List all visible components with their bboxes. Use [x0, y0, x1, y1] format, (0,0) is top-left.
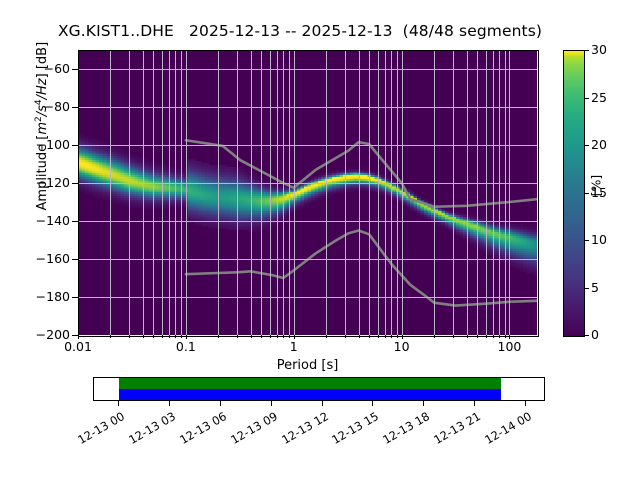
gridline-vertical: [186, 50, 187, 335]
x-minor-tick-mark: [283, 335, 284, 338]
timeline-data-bar: [119, 378, 501, 389]
gridline-vertical: [289, 50, 290, 335]
gridline-vertical: [434, 50, 435, 335]
x-minor-tick-mark: [378, 335, 379, 338]
gridline-vertical: [283, 50, 284, 335]
x-tick-label: 100: [479, 339, 539, 354]
gridline-vertical: [369, 50, 370, 335]
gridline-vertical: [402, 50, 403, 335]
y-tick-label: −120: [22, 175, 70, 190]
colorbar-tick-mark: [584, 288, 589, 289]
colorbar-tick-label: 5: [591, 280, 599, 295]
x-minor-tick-mark: [345, 335, 346, 338]
y-tick-label: −80: [22, 99, 70, 114]
gridline-horizontal: [78, 259, 537, 260]
gridline-vertical: [162, 50, 163, 335]
timeline-tick-label: 12-13 03: [119, 409, 178, 451]
x-minor-tick-mark: [218, 335, 219, 338]
x-minor-tick-mark: [175, 335, 176, 338]
colorbar: [563, 50, 585, 337]
timeline-tick-label: 12-13 06: [170, 409, 229, 451]
x-minor-tick-mark: [391, 335, 392, 338]
ppsd-figure: XG.KIST1..DHE 2025-12-13 -- 2025-12-13 (…: [0, 0, 640, 480]
x-minor-tick-mark: [251, 335, 252, 338]
gridline-vertical: [153, 50, 154, 335]
colorbar-tick-label: 25: [591, 90, 607, 105]
gridline-vertical: [326, 50, 327, 335]
x-minor-tick-mark: [385, 335, 386, 338]
gridline-vertical: [397, 50, 398, 335]
timeline-tick-mark: [423, 401, 424, 406]
gridline-vertical: [359, 50, 360, 335]
x-tick-label: 0.1: [156, 339, 216, 354]
gridline-vertical: [467, 50, 468, 335]
gridline-vertical: [270, 50, 271, 335]
timeline-tick-label: 12-13 15: [322, 409, 381, 451]
y-tick-label: −60: [22, 61, 70, 76]
y-tick-mark: [72, 145, 78, 146]
gridline-vertical: [499, 50, 500, 335]
x-minor-tick-mark: [359, 335, 360, 338]
timeline-tick-label: 12-13 12: [272, 409, 331, 451]
colorbar-tick-mark: [584, 98, 589, 99]
x-minor-tick-mark: [181, 335, 182, 338]
x-minor-tick-mark: [326, 335, 327, 338]
x-tick-label: 0.01: [48, 339, 108, 354]
x-minor-tick-mark: [467, 335, 468, 338]
timeline-tick-mark: [474, 401, 475, 406]
colorbar-tick-label: 15: [591, 185, 607, 200]
x-minor-tick-mark: [169, 335, 170, 338]
timeline-tick-label: 12-13 18: [373, 409, 432, 451]
gridline-vertical: [477, 50, 478, 335]
y-tick-label: −140: [22, 213, 70, 228]
timeline-tick-label: 12-13 21: [424, 409, 483, 451]
gridline-vertical: [78, 50, 79, 335]
timeline-tick-mark: [322, 401, 323, 406]
colorbar-tick-mark: [584, 145, 589, 146]
colorbar-tick-label: 0: [591, 327, 599, 342]
x-minor-tick-mark: [493, 335, 494, 338]
gridline-vertical: [391, 50, 392, 335]
y-tick-label: −180: [22, 289, 70, 304]
x-minor-tick-mark: [289, 335, 290, 338]
gridline-vertical: [509, 50, 510, 335]
x-minor-tick-mark: [397, 335, 398, 338]
x-tick-mark: [78, 335, 79, 339]
gridline-vertical: [110, 50, 111, 335]
colorbar-tick-label: 20: [591, 137, 607, 152]
gridline-vertical: [453, 50, 454, 335]
gridline-vertical: [294, 50, 295, 335]
y-tick-mark: [72, 107, 78, 108]
x-minor-tick-mark: [237, 335, 238, 338]
x-minor-tick-mark: [369, 335, 370, 338]
nlnm-curve: [186, 231, 537, 306]
gridline-vertical: [237, 50, 238, 335]
gridline-vertical: [251, 50, 252, 335]
x-minor-tick-mark: [453, 335, 454, 338]
gridline-horizontal: [78, 221, 537, 222]
x-minor-tick-mark: [277, 335, 278, 338]
x-axis-label: Period [s]: [78, 358, 537, 373]
figure-title: XG.KIST1..DHE 2025-12-13 -- 2025-12-13 (…: [0, 22, 600, 40]
y-tick-label: −160: [22, 251, 70, 266]
y-tick-mark: [72, 69, 78, 70]
x-minor-tick-mark: [477, 335, 478, 338]
x-minor-tick-mark: [505, 335, 506, 338]
y-tick-mark: [72, 221, 78, 222]
gridline-vertical: [277, 50, 278, 335]
x-tick-mark: [294, 335, 295, 339]
timeline-used-bar: [119, 389, 501, 400]
gridline-horizontal: [78, 297, 537, 298]
x-tick-label: 10: [372, 339, 432, 354]
gridline-vertical: [378, 50, 379, 335]
gridline-vertical: [261, 50, 262, 335]
colorbar-tick-mark: [584, 335, 589, 336]
x-tick-mark: [509, 335, 510, 339]
gridline-horizontal: [78, 183, 537, 184]
gridline-horizontal: [78, 107, 537, 108]
y-tick-label: −100: [22, 137, 70, 152]
timeline-tick-mark: [220, 401, 221, 406]
gridline-horizontal: [78, 145, 537, 146]
timeline-tick-mark: [169, 401, 170, 406]
colorbar-tick-label: 30: [591, 42, 607, 57]
x-minor-tick-mark: [162, 335, 163, 338]
y-tick-mark: [72, 183, 78, 184]
x-minor-tick-mark: [143, 335, 144, 338]
x-minor-tick-mark: [499, 335, 500, 338]
x-minor-tick-mark: [261, 335, 262, 338]
timeline-tick-label: 12-13 09: [221, 409, 280, 451]
noise-model-curves: [78, 50, 537, 335]
timeline-tick-mark: [118, 401, 119, 406]
ppsd-plot-area: [78, 50, 537, 335]
timeline-axes: [93, 377, 545, 401]
colorbar-tick-mark: [584, 50, 589, 51]
x-minor-tick-mark: [434, 335, 435, 338]
gridline-vertical: [385, 50, 386, 335]
x-minor-tick-mark: [486, 335, 487, 338]
gridline-vertical: [181, 50, 182, 335]
gridline-vertical: [493, 50, 494, 335]
gridline-vertical: [486, 50, 487, 335]
nhnm-curve: [186, 140, 537, 207]
x-tick-mark: [186, 335, 187, 339]
timeline-tick-mark: [525, 401, 526, 406]
x-minor-tick-mark: [270, 335, 271, 338]
gridline-horizontal: [78, 69, 537, 70]
x-minor-tick-mark: [110, 335, 111, 338]
y-tick-mark: [72, 259, 78, 260]
x-minor-tick-mark: [153, 335, 154, 338]
x-tick-mark: [402, 335, 403, 339]
timeline-tick-mark: [372, 401, 373, 406]
timeline-tick-label: 12-13 00: [68, 409, 127, 451]
y-tick-mark: [72, 297, 78, 298]
x-tick-label: 1: [264, 339, 324, 354]
colorbar-tick-mark: [584, 240, 589, 241]
timeline-tick-mark: [271, 401, 272, 406]
gridline-vertical: [169, 50, 170, 335]
gridline-vertical: [129, 50, 130, 335]
gridline-vertical: [143, 50, 144, 335]
gridline-vertical: [175, 50, 176, 335]
timeline-tick-label: 12-14 00: [475, 409, 534, 451]
colorbar-tick-label: 10: [591, 232, 607, 247]
gridline-vertical: [345, 50, 346, 335]
gridline-vertical: [218, 50, 219, 335]
x-minor-tick-mark: [129, 335, 130, 338]
gridline-vertical: [505, 50, 506, 335]
colorbar-tick-mark: [584, 193, 589, 194]
